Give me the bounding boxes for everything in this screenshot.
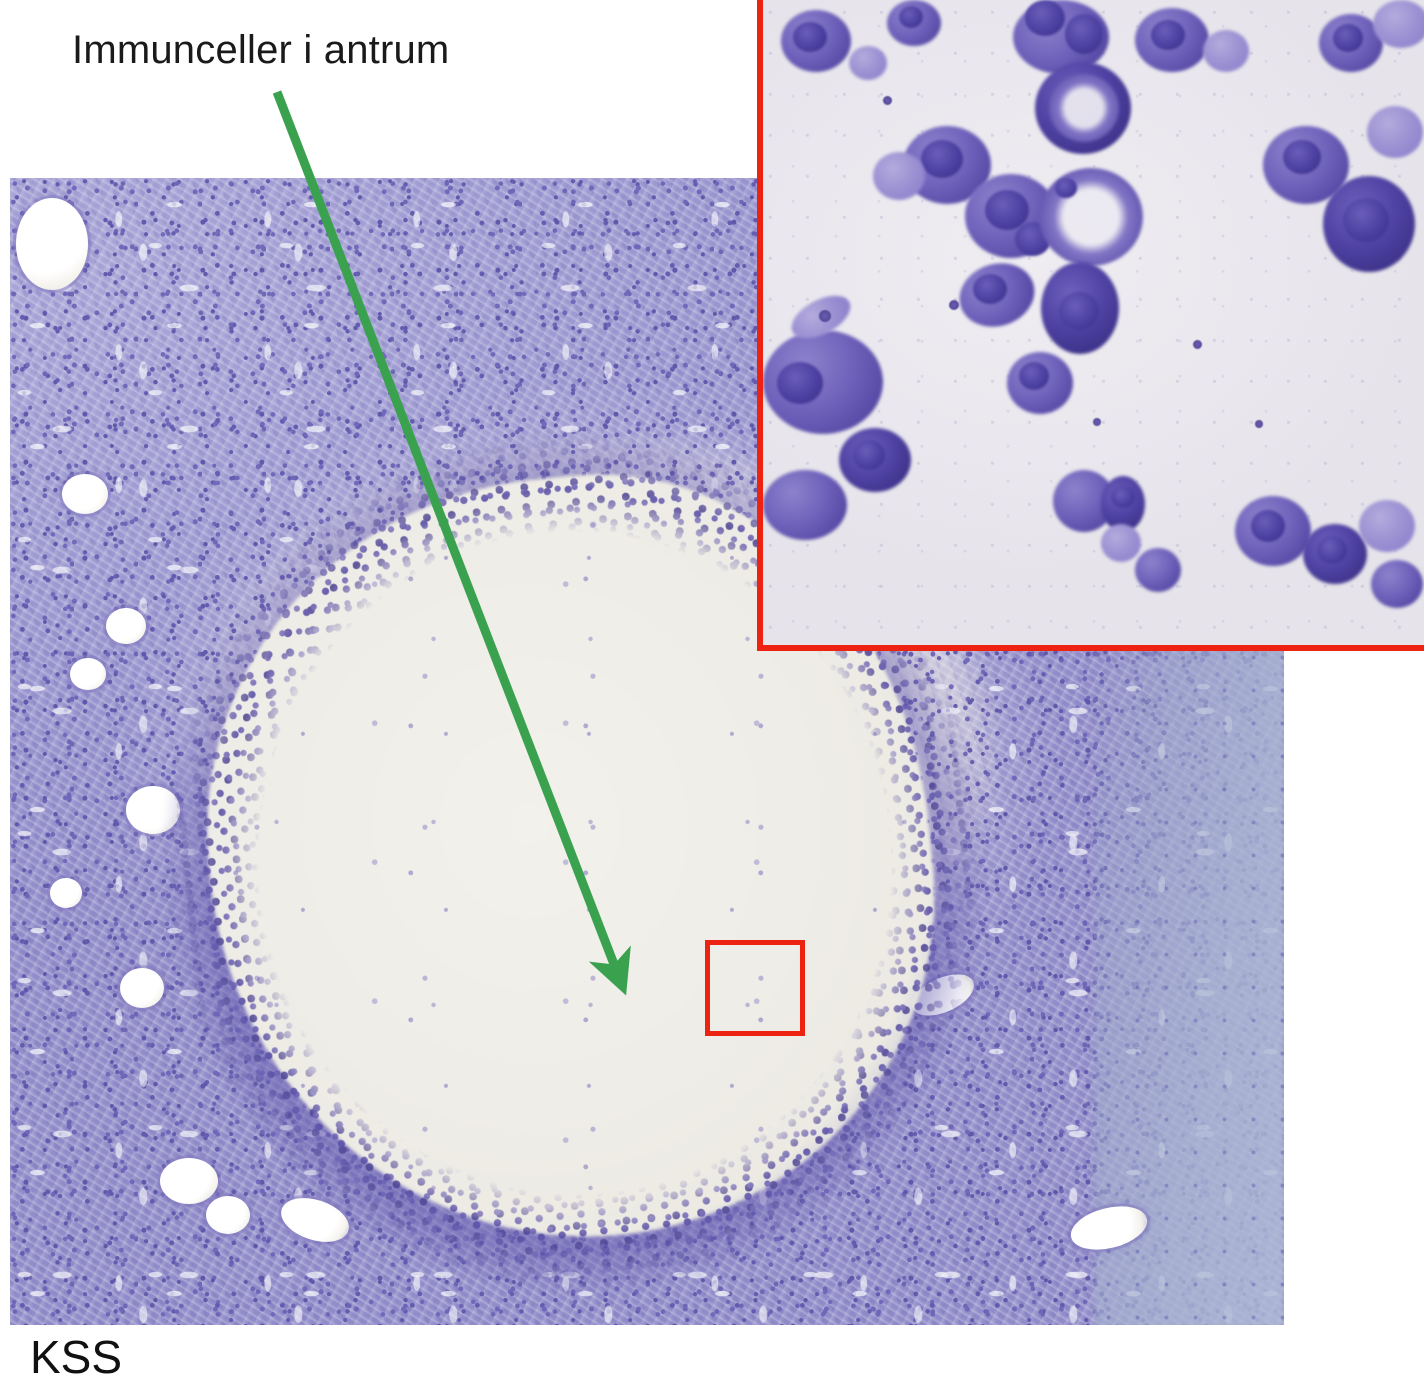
roi-highlight-box <box>705 940 805 1036</box>
immune-cell-nucleus-lobe <box>853 440 885 470</box>
inset-high-mag-panel <box>757 0 1424 651</box>
immune-cell-nucleus-lobe <box>1251 510 1285 542</box>
immune-cell-nucleus-lobe <box>899 6 923 28</box>
cell-fragment <box>1093 418 1101 426</box>
follicle-vesicle <box>50 878 82 908</box>
cell-fragment <box>819 310 831 322</box>
immune-cell-nucleus-lobe <box>1025 0 1065 36</box>
immune-cell <box>1203 30 1249 72</box>
follicle-vesicle <box>62 474 108 514</box>
bottom-caption: KSS <box>30 1334 122 1380</box>
immune-cell <box>1135 548 1181 592</box>
immune-cell-nucleus-lobe <box>1333 24 1363 52</box>
immune-cell-nucleus-lobe <box>1111 486 1135 508</box>
immune-cell-nucleus-lobe <box>793 22 827 52</box>
immune-cell <box>1371 560 1423 608</box>
immune-cell-ring-nucleus <box>1039 168 1143 266</box>
immune-cell <box>873 152 925 200</box>
cell-fragment <box>1255 420 1263 428</box>
follicle-vesicle <box>70 658 106 690</box>
immune-cell <box>1101 524 1141 562</box>
follicle-vesicle <box>160 1158 218 1204</box>
follicle-vesicle <box>206 1196 250 1234</box>
cell-fragment <box>1193 340 1202 349</box>
immune-cell-nucleus-lobe <box>777 362 823 404</box>
immune-cell-nucleus-lobe <box>1151 20 1185 50</box>
immune-cell-nucleus-lobe <box>1317 536 1347 564</box>
immune-cell-nucleus-lobe <box>1065 14 1103 54</box>
slide-canvas: Immunceller i antrum <box>0 0 1424 1354</box>
immune-cell-nucleus-lobe <box>1343 198 1389 242</box>
immune-cell <box>849 46 887 80</box>
immune-cell <box>763 470 847 540</box>
immune-cell-nucleus-lobe <box>1019 362 1049 390</box>
page-title: Immunceller i antrum <box>72 24 449 76</box>
immune-cell-nucleus-lobe <box>921 140 963 178</box>
follicle-vesicle <box>106 608 146 644</box>
immune-cell <box>1359 500 1415 552</box>
immune-cell-nucleus-lobe <box>1059 292 1099 330</box>
immune-cell-nucleus-lobe <box>973 274 1007 304</box>
follicle-vesicle <box>16 198 88 290</box>
immune-cell-nucleus-lobe <box>1283 140 1321 174</box>
cell-fragment <box>949 300 959 310</box>
immune-cell <box>1373 0 1424 48</box>
immune-cell-ring-nucleus <box>1049 74 1119 142</box>
immune-cell-nucleus-lobe <box>1055 178 1077 198</box>
immune-cell <box>1367 106 1423 158</box>
follicle-vesicle <box>120 968 164 1008</box>
cell-fragment <box>883 96 892 105</box>
